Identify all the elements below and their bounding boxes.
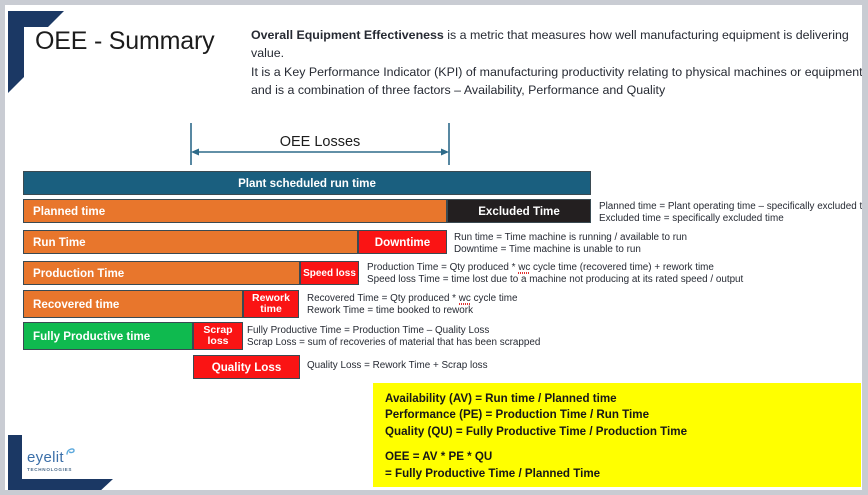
bar-recovered-time: Recovered time xyxy=(23,290,243,318)
note-row4-line1: Recovered Time = Qty produced * wc cycle… xyxy=(307,293,518,305)
bar-fully-productive-time: Fully Productive time xyxy=(23,322,193,350)
logo-tagline: TECHNOLOGIES xyxy=(27,467,89,472)
note-row3-line1: Production Time = Qty produced * wc cycl… xyxy=(367,262,743,274)
bar-label-speed-loss: Speed loss xyxy=(303,268,356,279)
intro-line2: It is a Key Performance Indicator (KPI) … xyxy=(251,65,862,79)
bar-rework-time: Rework time xyxy=(243,290,299,318)
note-row4-line1-b: cycle time xyxy=(471,293,518,304)
note-row1-line2: Excluded time = specifically excluded ti… xyxy=(599,213,862,225)
bar-quality-loss: Quality Loss xyxy=(193,355,300,379)
bar-production-time: Production Time xyxy=(23,261,300,285)
bar-excluded-time: Excluded Time xyxy=(447,199,591,223)
note-row4-spellcheck-word: wc xyxy=(459,293,471,304)
formula-availability: Availability (AV) = Run time / Planned t… xyxy=(385,391,861,407)
note-row6-line1: Quality Loss = Rework Time + Scrap loss xyxy=(307,360,488,372)
bar-label-production-time: Production Time xyxy=(33,267,124,280)
bar-run-time: Run Time xyxy=(23,230,358,254)
note-row5-line2: Scrap Loss = sum of recoveries of materi… xyxy=(247,337,540,349)
note-row2-line2: Downtime = Time machine is unable to run xyxy=(454,244,687,256)
note-row3: Production Time = Qty produced * wc cycl… xyxy=(367,262,743,287)
formula-oee: OEE = AV * PE * QU xyxy=(385,449,861,465)
note-row3-line1-a: Production Time = Qty produced * xyxy=(367,262,518,273)
note-row3-spellcheck-word: wc xyxy=(518,262,530,273)
note-row2: Run time = Time machine is running / ava… xyxy=(454,232,687,257)
formula-spacer xyxy=(385,440,861,449)
bar-speed-loss: Speed loss xyxy=(300,261,359,285)
note-row3-line1-b: cycle time (recovered time) + rework tim… xyxy=(530,262,714,273)
intro-bold-lead: Overall Equipment Effectiveness xyxy=(251,28,444,42)
logo: eyelit TECHNOLOGIES xyxy=(27,449,89,481)
bar-planned-time: Planned time xyxy=(23,199,447,223)
note-row6: Quality Loss = Rework Time + Scrap loss xyxy=(307,360,488,372)
bar-label-rework-time-line2: time xyxy=(260,304,282,316)
note-row4: Recovered Time = Qty produced * wc cycle… xyxy=(307,293,518,318)
formula-oee-alt: = Fully Productive Time / Planned Time xyxy=(385,466,861,482)
note-row5-line1: Fully Productive Time = Production Time … xyxy=(247,325,540,337)
note-row2-line1: Run time = Time machine is running / ava… xyxy=(454,232,687,244)
slide-canvas: OEE - Summary Overall Equipment Effectiv… xyxy=(5,5,862,490)
note-row1-line1: Planned time = Plant operating time – sp… xyxy=(599,201,862,213)
bar-downtime: Downtime xyxy=(358,230,447,254)
note-row3-line2: Speed loss Time = time lost due to a mac… xyxy=(367,274,743,286)
logo-swoosh-icon xyxy=(66,447,75,455)
bar-label-plant-scheduled: Plant scheduled run time xyxy=(238,177,376,190)
bar-label-excluded-time: Excluded Time xyxy=(478,205,560,218)
bar-label-downtime: Downtime xyxy=(375,236,430,249)
bar-label-run-time: Run Time xyxy=(33,236,86,249)
formula-box: Availability (AV) = Run time / Planned t… xyxy=(373,383,861,487)
note-row4-line1-a: Recovered Time = Qty produced * xyxy=(307,293,459,304)
intro-paragraph: Overall Equipment Effectiveness is a met… xyxy=(251,26,862,100)
formula-performance: Performance (PE) = Production Time / Run… xyxy=(385,407,861,423)
bar-label-planned-time: Planned time xyxy=(33,205,105,218)
bar-scrap-loss: Scrap loss xyxy=(193,322,243,350)
page-edge-bottom xyxy=(0,490,868,495)
bar-plant-scheduled-run-time: Plant scheduled run time xyxy=(23,171,591,195)
note-row5: Fully Productive Time = Production Time … xyxy=(247,325,540,350)
bar-label-scrap-loss-line2: loss xyxy=(207,336,228,348)
oee-losses-label: OEE Losses xyxy=(191,134,449,150)
logo-wordmark: eyelit xyxy=(27,449,64,466)
bar-label-recovered-time: Recovered time xyxy=(33,298,119,311)
note-row1: Planned time = Plant operating time – sp… xyxy=(599,201,862,226)
page-edge-right xyxy=(862,0,868,495)
bar-label-fully-productive-time: Fully Productive time xyxy=(33,330,150,343)
note-row4-line2: Rework Time = time booked to rework xyxy=(307,305,518,317)
intro-line3: and is a combination of three factors – … xyxy=(251,83,665,97)
formula-quality: Quality (QU) = Fully Productive Time / P… xyxy=(385,424,861,440)
bar-label-quality-loss: Quality Loss xyxy=(212,361,282,374)
slide-root: OEE - Summary Overall Equipment Effectiv… xyxy=(0,0,868,495)
page-title: OEE - Summary xyxy=(35,27,245,56)
